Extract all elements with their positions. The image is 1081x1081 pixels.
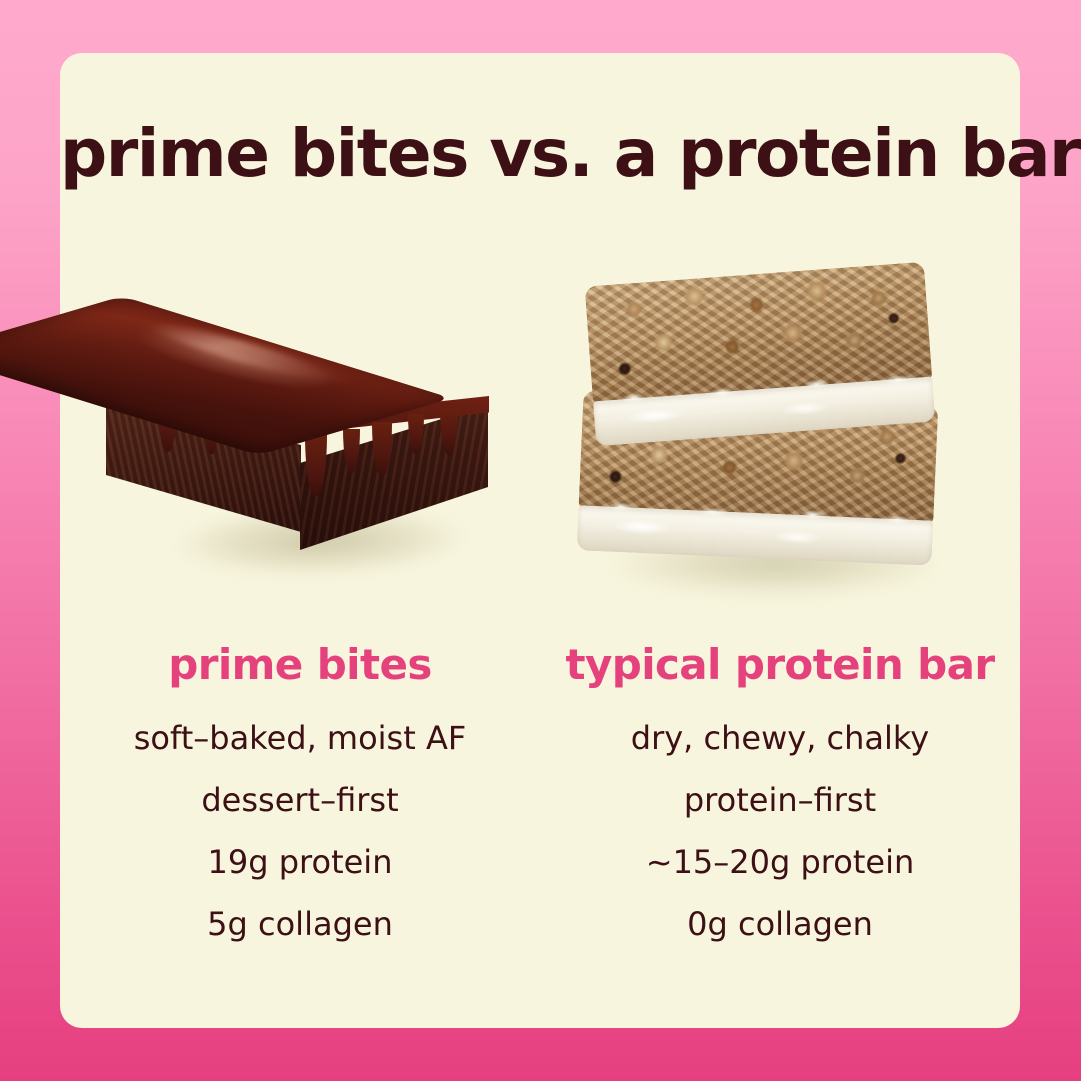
column-heading-typical-protein-bar: typical protein bar (565, 640, 994, 689)
feature-item: 5g collagen (60, 893, 540, 955)
comparison-columns: prime bites soft–baked, moist AF dessert… (60, 258, 1020, 955)
comparison-card: prime bites vs. a protein bar (60, 53, 1020, 1028)
protein-bar-product-image (560, 258, 1000, 618)
protein-bar-top (585, 262, 936, 446)
column-typical-protein-bar: typical protein bar dry, chewy, chalky p… (540, 258, 1020, 955)
brownie-product-image (80, 258, 520, 618)
column-prime-bites: prime bites soft–baked, moist AF dessert… (60, 258, 540, 955)
feature-item: 0g collagen (540, 893, 1020, 955)
brownie-illustration (100, 296, 500, 566)
feature-item: dessert–first (60, 769, 540, 831)
feature-item: dry, chewy, chalky (540, 707, 1020, 769)
feature-item: soft–baked, moist AF (60, 707, 540, 769)
feature-item: protein–first (540, 769, 1020, 831)
feature-list-typical-protein-bar: dry, chewy, chalky protein–first ~15–20g… (540, 707, 1020, 955)
feature-item: 19g protein (60, 831, 540, 893)
feature-item: ~15–20g protein (540, 831, 1020, 893)
page-title: prime bites vs. a protein bar (60, 115, 1020, 192)
column-heading-prime-bites: prime bites (168, 640, 431, 689)
feature-list-prime-bites: soft–baked, moist AF dessert–first 19g p… (60, 707, 540, 955)
